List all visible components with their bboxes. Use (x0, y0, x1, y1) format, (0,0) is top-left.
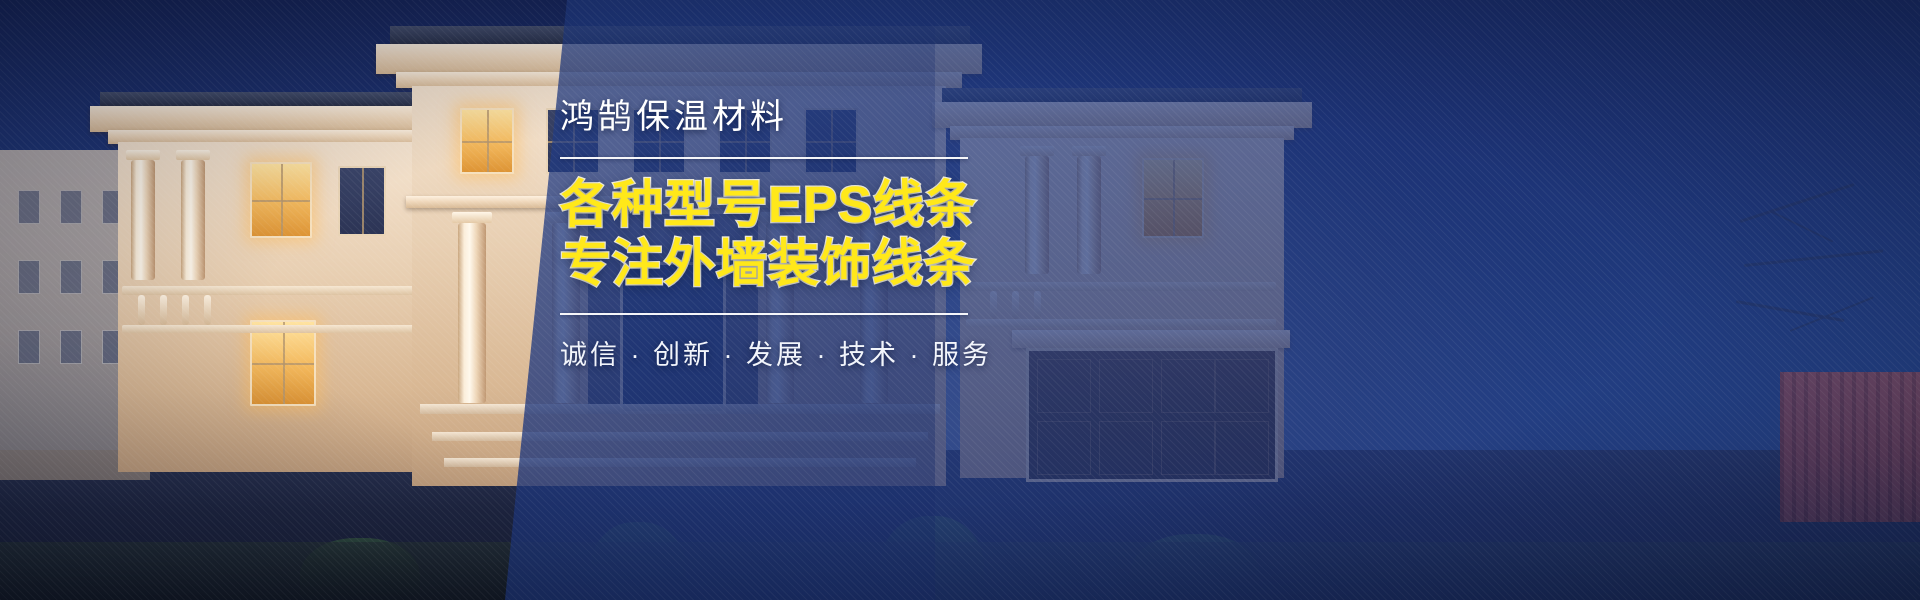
headline-line-2: 专注外墙装饰线条 (560, 234, 1030, 293)
promo-banner: 鸿鹄保温材料 各种型号EPS线条 专注外墙装饰线条 诚信 · 创新 · 发展 ·… (0, 0, 1920, 600)
brand-name: 鸿鹄保温材料 (560, 96, 1030, 139)
headline: 各种型号EPS线条 专注外墙装饰线条 (560, 175, 1030, 293)
tagline: 诚信 · 创新 · 发展 · 技术 · 服务 (560, 333, 1030, 372)
headline-line-1: 各种型号EPS线条 (560, 175, 1030, 234)
banner-copy-block: 鸿鹄保温材料 各种型号EPS线条 专注外墙装饰线条 诚信 · 创新 · 发展 ·… (560, 96, 1030, 372)
divider-rule-bottom (560, 313, 968, 315)
divider-rule-top (560, 157, 968, 159)
